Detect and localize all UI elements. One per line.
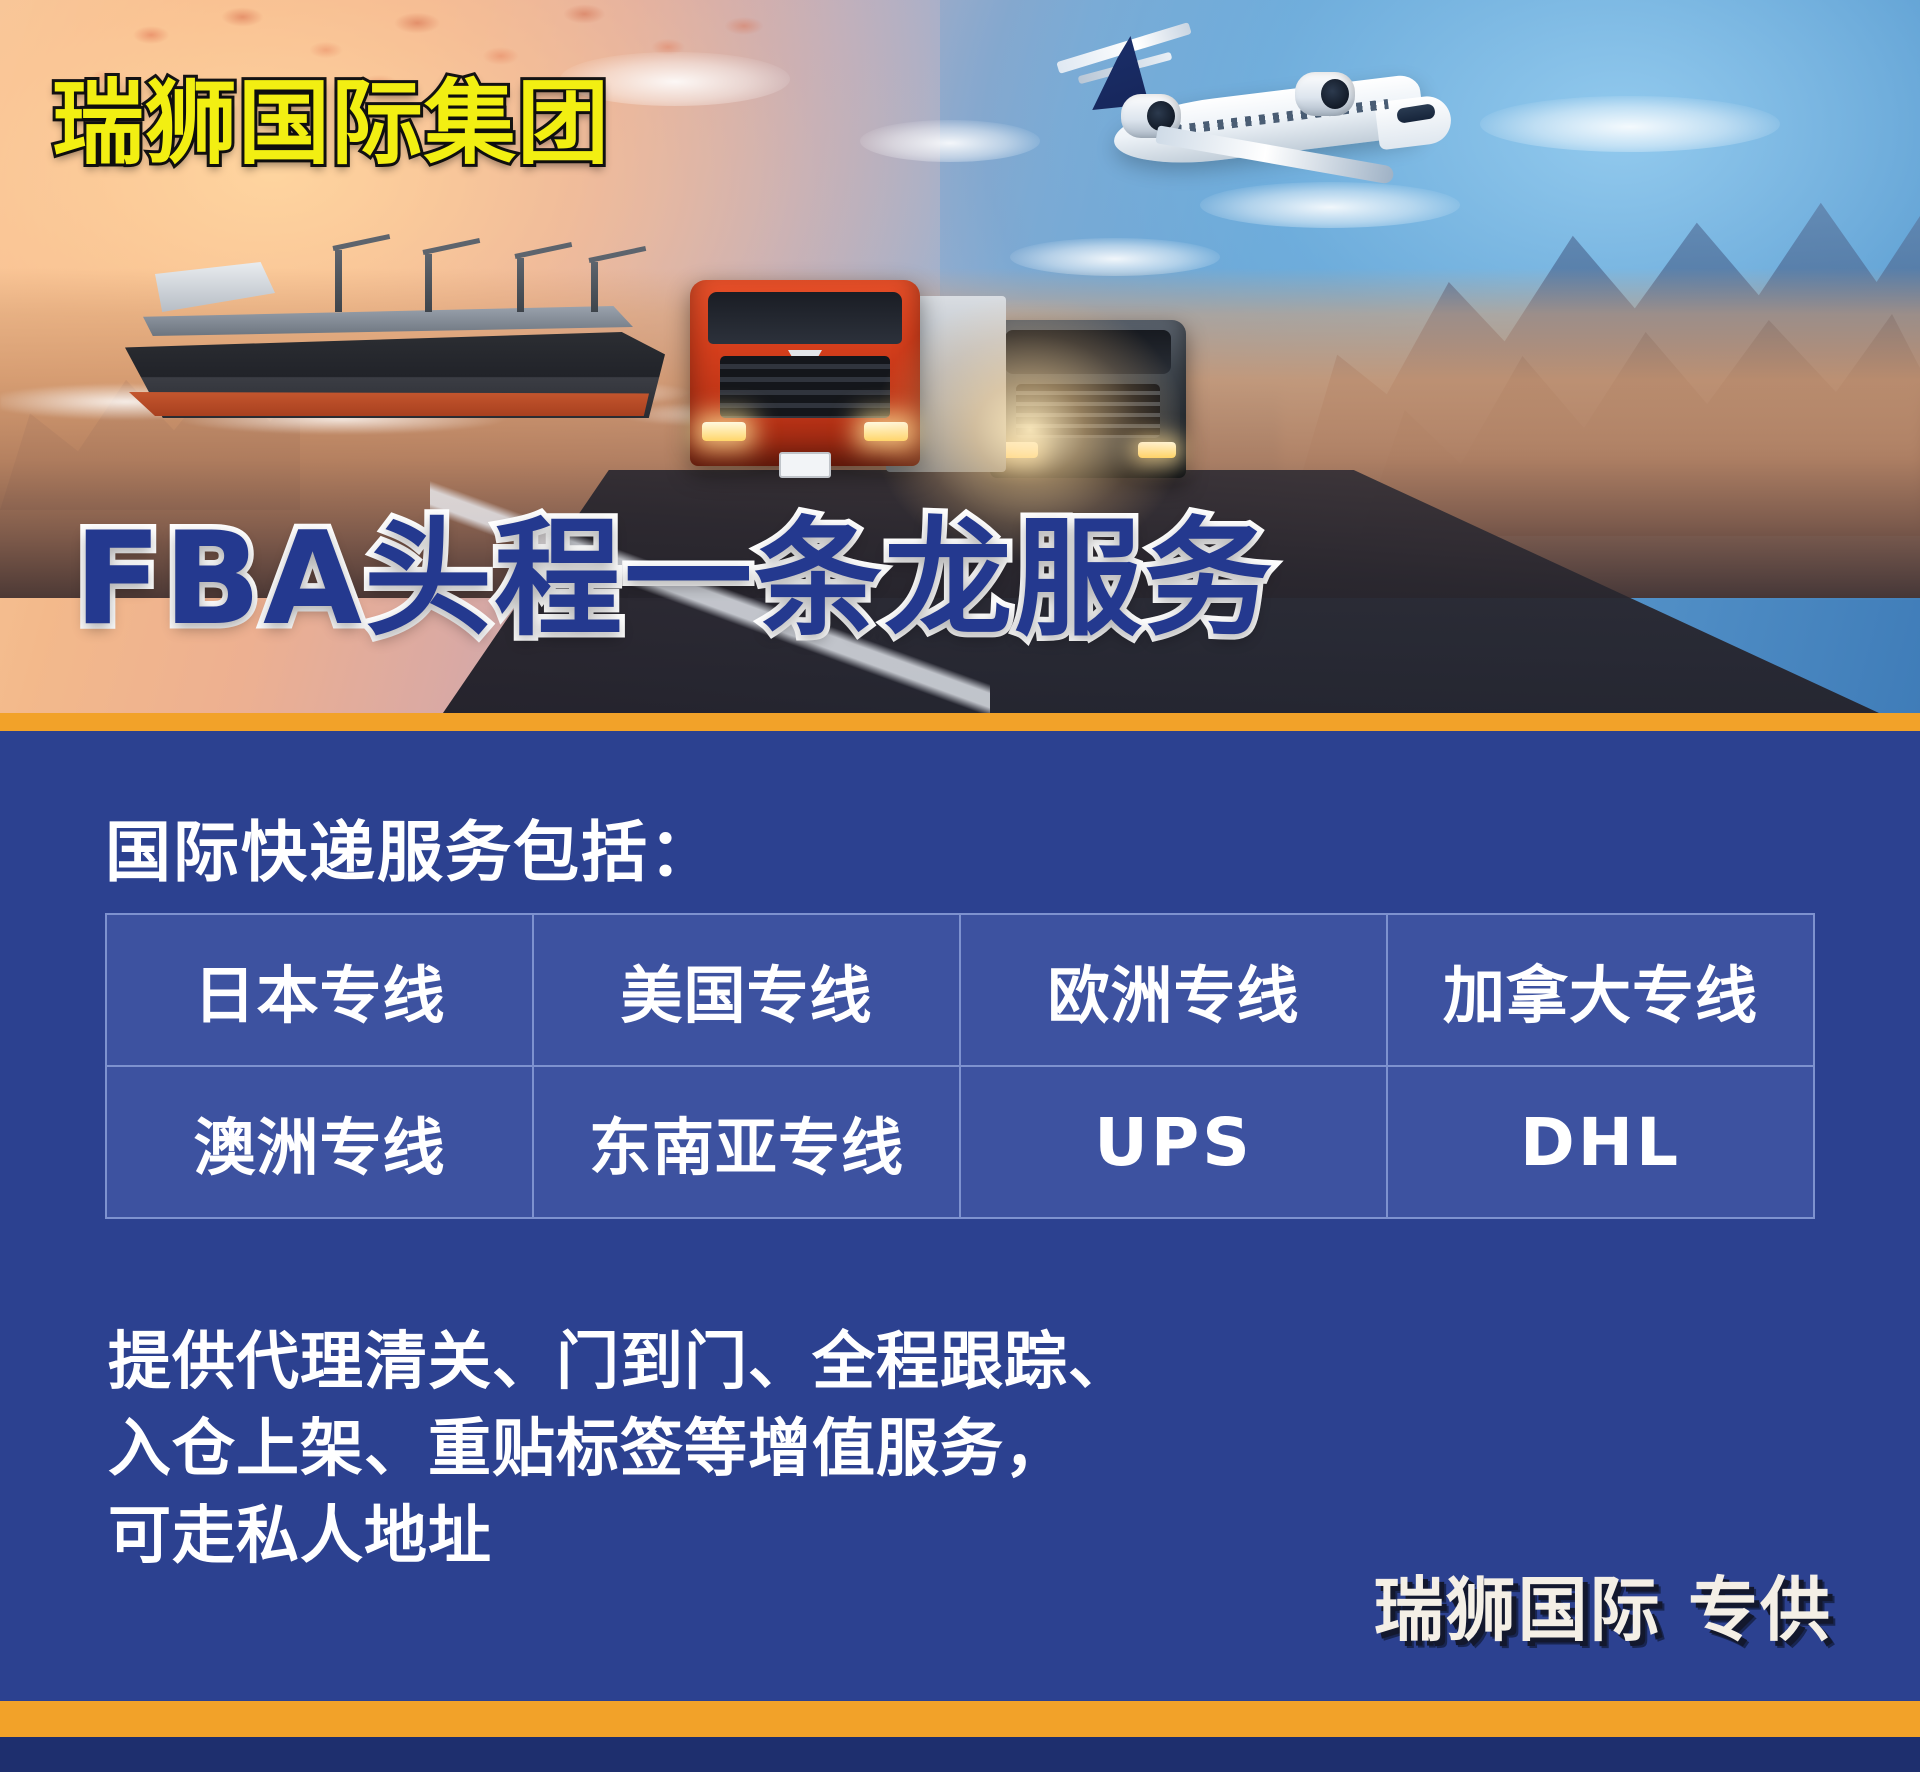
bottom-orange-bar: [0, 1701, 1920, 1737]
ship-crane: [335, 250, 342, 312]
description-line-2: 入仓上架、重贴标签等增值服务，: [108, 1406, 1132, 1493]
ship-hull-stripe: [129, 392, 649, 416]
service-cell-canada[interactable]: 加拿大专线: [1387, 914, 1814, 1066]
ship-bridge: [155, 262, 275, 312]
service-cell-japan[interactable]: 日本专线: [106, 914, 533, 1066]
cloud-wisp: [860, 120, 1040, 162]
dark-truck-grille: [1016, 384, 1160, 438]
service-cell-southeast-asia[interactable]: 东南亚专线: [533, 1066, 960, 1218]
services-description: 提供代理清关、门到门、全程跟踪、 入仓上架、重贴标签等增值服务， 可走私人地址: [108, 1319, 1132, 1580]
red-truck-headlight: [864, 422, 908, 441]
footer-brand: 瑞狮国际 专供: [1374, 1554, 1832, 1655]
cargo-ship-icon: [125, 255, 685, 440]
table-row: 日本专线 美国专线 欧洲专线 加拿大专线: [106, 914, 1814, 1066]
dark-truck-windshield: [1005, 330, 1171, 374]
description-line-3: 可走私人地址: [108, 1493, 1132, 1580]
services-table: 日本专线 美国专线 欧洲专线 加拿大专线 澳洲专线 东南亚专线 UPS DHL: [105, 913, 1815, 1219]
description-line-1: 提供代理清关、门到门、全程跟踪、: [108, 1319, 1132, 1406]
plane-engine: [1295, 72, 1355, 116]
airplane-icon: [1025, 28, 1445, 218]
red-truck-headlight: [702, 422, 746, 441]
table-row: 澳洲专线 东南亚专线 UPS DHL: [106, 1066, 1814, 1218]
company-logo: 瑞狮国际集团: [52, 78, 610, 170]
ship-crane: [425, 254, 432, 312]
orange-divider: [0, 713, 1920, 731]
service-cell-europe[interactable]: 欧洲专线: [960, 914, 1387, 1066]
red-truck-windshield: [708, 292, 902, 344]
hero-banner: 瑞狮国际集团 FBA头程一条龙服务: [0, 0, 1920, 732]
panel-title: 国际快递服务包括：: [105, 799, 717, 895]
service-cell-australia[interactable]: 澳洲专线: [106, 1066, 533, 1218]
services-panel: 国际快递服务包括： 日本专线 美国专线 欧洲专线 加拿大专线 澳洲专线 东南亚专…: [0, 731, 1920, 1737]
ship-deck: [143, 306, 633, 336]
red-truck-license-plate: [779, 452, 831, 478]
red-truck-icon: [690, 280, 920, 530]
service-cell-dhl[interactable]: DHL: [1387, 1066, 1814, 1218]
hero-headline: FBA头程一条龙服务: [74, 516, 1274, 644]
service-cell-usa[interactable]: 美国专线: [533, 914, 960, 1066]
dark-truck-headlight: [1138, 442, 1176, 458]
red-truck-grille: [720, 356, 890, 418]
cloud-wisp: [1480, 96, 1780, 152]
ship-crane: [591, 262, 598, 312]
ship-crane: [517, 258, 524, 312]
service-cell-ups[interactable]: UPS: [960, 1066, 1387, 1218]
